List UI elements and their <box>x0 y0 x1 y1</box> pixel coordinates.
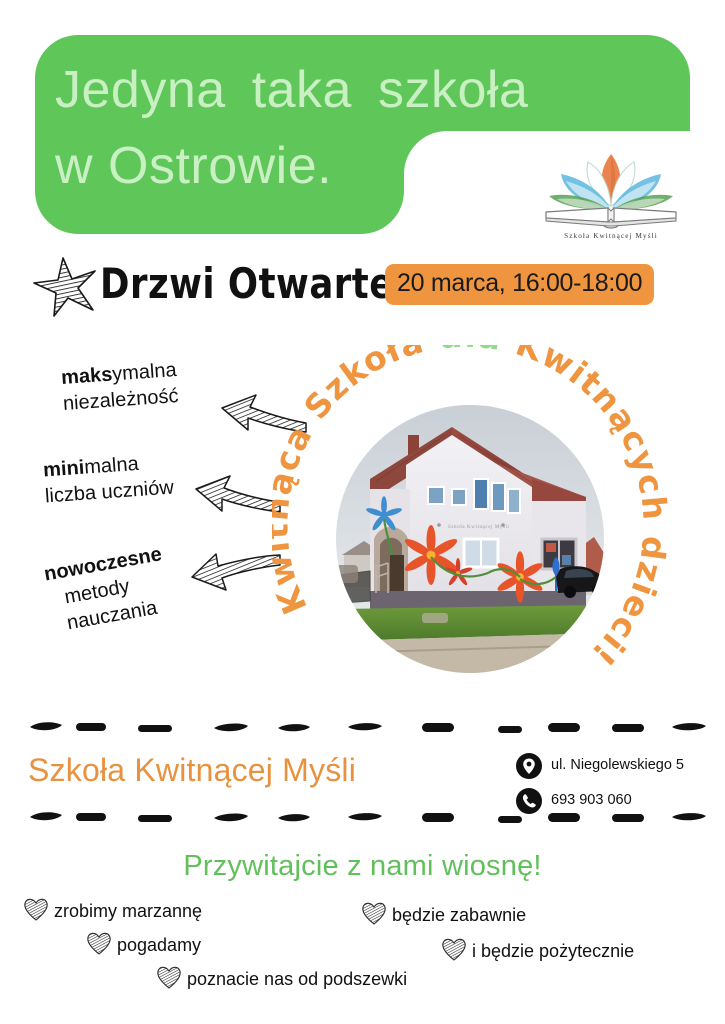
open-day-badge: 20 marca, 16:00-18:00 <box>385 264 654 305</box>
location-pin-icon <box>516 753 542 779</box>
bullet-text: pogadamy <box>117 935 201 956</box>
hand-drawn-star-icon <box>30 255 100 319</box>
hero-word-1: Jedyna <box>55 61 226 119</box>
contact-address-row[interactable]: ul. Niegolewskiego 5 <box>516 752 716 784</box>
bullet-text: poznacie nas od podszewki <box>187 969 407 990</box>
activity-bullets: zrobimy marzannę pogadamy poznacie nas o… <box>0 890 725 1010</box>
heart-icon <box>85 929 113 957</box>
heart-icon <box>155 963 183 991</box>
feature-2-strong: mini <box>42 457 85 482</box>
feature-2-rest: malna <box>84 453 140 479</box>
hero-word-3: szkoła <box>378 61 528 119</box>
hand-drawn-arrow-left-icon <box>188 547 283 595</box>
svg-text:Kwitnąca Szkoła dla Kwitnących: Kwitnąca Szkoła dla Kwitnących dzieci! <box>272 345 675 675</box>
bullet-text: i będzie pożytecznie <box>472 941 634 962</box>
bullet-text: zrobimy marzannę <box>54 901 202 922</box>
logo-caption: Szkoła Kwitnącej Myśli <box>530 232 692 240</box>
contact-phone-text: 693 903 060 <box>551 792 632 808</box>
dashed-divider-top <box>0 718 725 734</box>
open-day-title: Drzwi Otwarte <box>100 260 394 308</box>
contact-address-text: ul. Niegolewskiego 5 <box>551 757 684 773</box>
hand-drawn-dashes-icon <box>0 808 725 824</box>
bullet-text: będzie zabawnie <box>392 905 526 926</box>
heart-icon <box>440 935 468 963</box>
curved-slogan-text: Kwitnąca Szkoła dla Kwitnących dzieci! <box>272 345 712 725</box>
hero-word-2: taka <box>252 61 352 119</box>
school-name: Szkoła Kwitnącej Myśli <box>28 752 356 789</box>
open-day-row: Drzwi Otwarte 20 marca, 16:00-18:00 <box>0 258 725 314</box>
lotus-book-logo-icon <box>530 148 692 230</box>
spring-greeting: Przywitajcie z nami wiosnę! <box>0 850 725 883</box>
heart-icon <box>360 899 388 927</box>
hand-drawn-arrow-left-icon <box>192 473 282 519</box>
photo-and-curved-text: Szkoła Kwitnącej Myśli <box>272 345 712 725</box>
feature-1-rest: ymalna <box>111 359 177 385</box>
feature-item-3: nowoczesne metody nauczania <box>42 541 173 638</box>
school-logo: Szkoła Kwitnącej Myśli <box>530 148 692 248</box>
feature-1-strong: maks <box>60 364 113 390</box>
heart-icon <box>22 895 50 923</box>
feature-item-2: minimalna liczba uczniów <box>42 449 174 510</box>
feature-item-1: maksymalna niezależność <box>60 357 179 417</box>
poster-root: Jedynatakaszkoła w Ostrowie. <box>0 0 725 1024</box>
hand-drawn-dashes-icon <box>0 718 725 734</box>
dashed-divider-bottom <box>0 808 725 824</box>
hero-line-1: Jedynatakaszkoła <box>55 52 685 128</box>
